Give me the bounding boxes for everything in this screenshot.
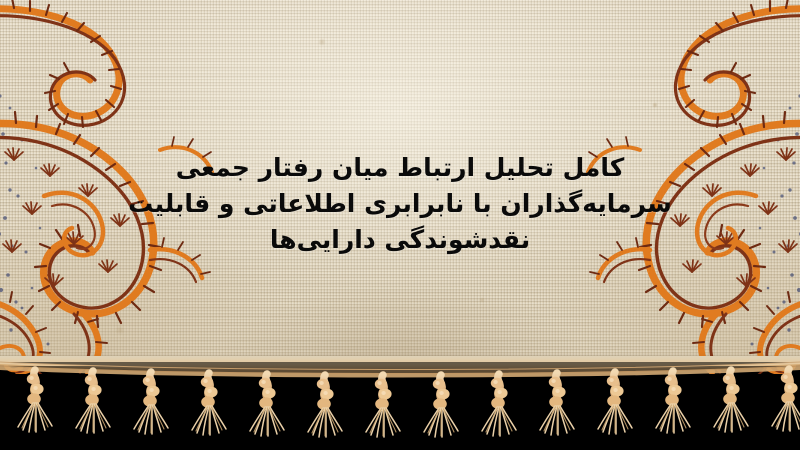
title-line-3: نقدشوندگی دارایی‌ها xyxy=(0,222,800,258)
scroll-curl-upper xyxy=(0,0,125,127)
page-title: کامل تحلیل ارتباط میان رفتار جمعی سرمایه… xyxy=(0,150,800,258)
title-line-1: کامل تحلیل ارتباط میان رفتار جمعی xyxy=(0,150,800,186)
tassel-row xyxy=(18,369,800,437)
scroll-curl-upper xyxy=(675,0,800,127)
title-card-canvas: کامل تحلیل ارتباط میان رفتار جمعی سرمایه… xyxy=(0,0,800,450)
tassel-fringe xyxy=(0,356,800,450)
title-line-2: سرمایه‌گذاران با نابرابری اطلاعاتی و قاب… xyxy=(0,186,800,222)
